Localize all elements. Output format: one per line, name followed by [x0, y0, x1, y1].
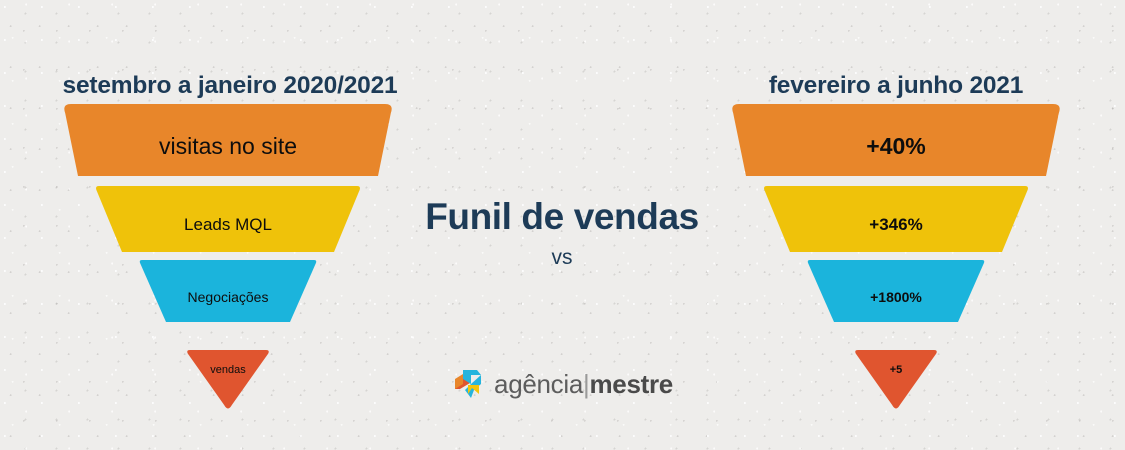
infographic-canvas: setembro a janeiro 2020/2021 fevereiro a…: [0, 0, 1125, 450]
brand-logo-text: agência|mestre: [494, 369, 673, 400]
brand-logo: agência|mestre: [412, 368, 712, 400]
funnel-segment-left-visits[interactable]: [64, 104, 391, 176]
funnel-left: visitas no siteLeads MQLNegociaçõesvenda…: [50, 104, 406, 416]
funnel-segment-right-leads-mql[interactable]: [764, 186, 1028, 252]
brand-word-agencia: agência: [494, 369, 583, 399]
funnel-segment-left-sales[interactable]: [187, 350, 269, 409]
agencia-mestre-mark-icon: [451, 368, 485, 400]
center-heading-block: Funil de vendas vs: [412, 198, 712, 270]
funnel-segment-left-leads-mql[interactable]: [96, 186, 360, 252]
funnel-shape-left: [50, 104, 406, 416]
versus-label: vs: [412, 246, 712, 270]
funnel-segment-right-visits[interactable]: [732, 104, 1059, 176]
funnel-right: +40%+346%+1800%+5: [718, 104, 1078, 416]
funnel-segment-right-sales[interactable]: [855, 350, 937, 409]
page-title: Funil de vendas: [412, 198, 712, 237]
funnel-title-right: fevereiro a junho 2021: [666, 72, 1125, 100]
funnel-segment-right-negotiations[interactable]: [808, 260, 984, 322]
funnel-shape-right: [718, 104, 1074, 416]
brand-word-mestre: mestre: [589, 369, 672, 399]
funnel-segment-left-negotiations[interactable]: [140, 260, 316, 322]
funnel-title-left: setembro a janeiro 2020/2021: [0, 72, 460, 100]
